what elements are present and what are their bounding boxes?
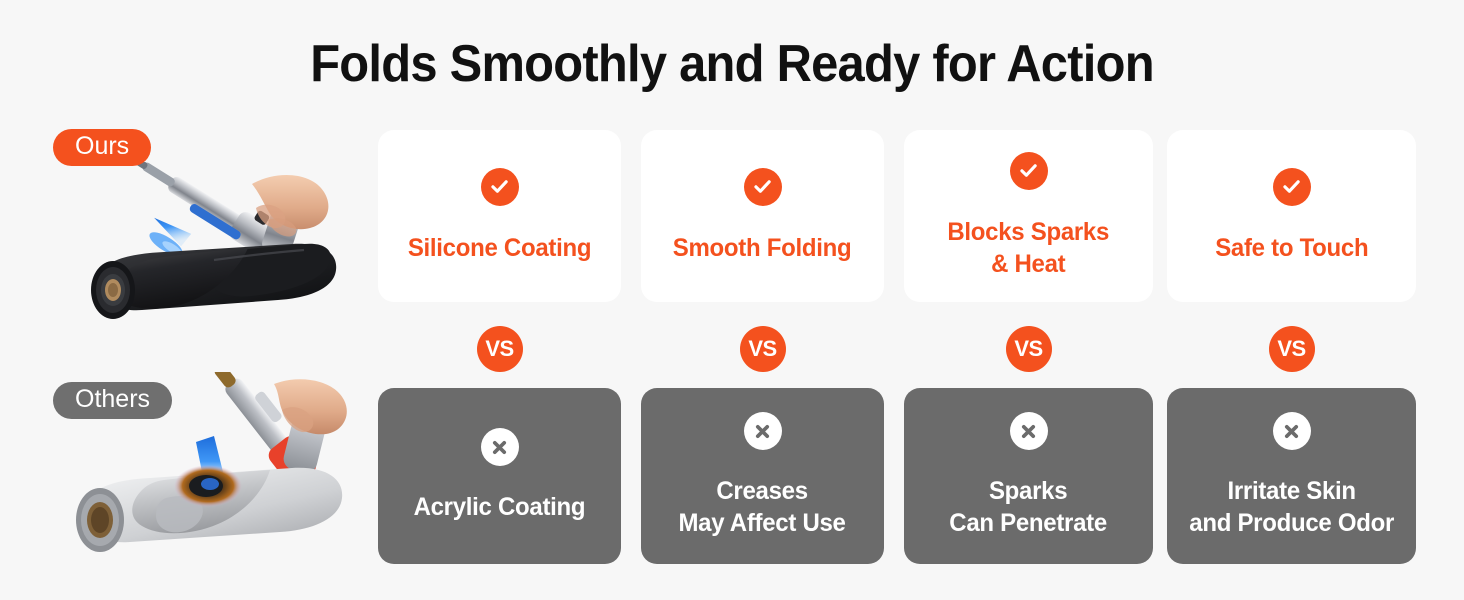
con-card-2[interactable]: Creases May Affect Use	[641, 388, 884, 564]
vs-badge-4: VS	[1269, 326, 1315, 372]
badge-others: Others	[53, 382, 172, 419]
pro-label-3: Blocks Sparks & Heat	[948, 217, 1110, 281]
check-icon	[1010, 152, 1048, 190]
pro-label-1: Silicone Coating	[408, 233, 591, 265]
comparison-infographic: Folds Smoothly and Ready for Action Ours	[0, 0, 1464, 600]
comparison-grid: Silicone Coating VS Acrylic Coating Smoo…	[378, 130, 1412, 565]
check-icon	[1273, 168, 1311, 206]
vs-badge-3: VS	[1006, 326, 1052, 372]
vs-badge-1: VS	[477, 326, 523, 372]
cross-icon	[1010, 412, 1048, 450]
pro-label-4: Safe to Touch	[1215, 233, 1368, 265]
con-card-3[interactable]: Sparks Can Penetrate	[904, 388, 1153, 564]
pro-card-1[interactable]: Silicone Coating	[378, 130, 621, 302]
comparison-column-3: Blocks Sparks & Heat VS Sparks Can Penet…	[904, 130, 1153, 565]
comparison-column-1: Silicone Coating VS Acrylic Coating	[378, 130, 621, 565]
cross-icon	[744, 412, 782, 450]
badge-ours: Ours	[53, 129, 151, 166]
pro-label-2: Smooth Folding	[673, 233, 852, 265]
pro-card-3[interactable]: Blocks Sparks & Heat	[904, 130, 1153, 302]
con-label-2: Creases May Affect Use	[679, 476, 846, 540]
con-card-1[interactable]: Acrylic Coating	[378, 388, 621, 564]
cross-icon	[1273, 412, 1311, 450]
vs-badge-2: VS	[740, 326, 786, 372]
product-image-ours	[38, 162, 358, 347]
con-label-1: Acrylic Coating	[414, 492, 586, 524]
page-title: Folds Smoothly and Ready for Action	[44, 36, 1420, 92]
pro-card-4[interactable]: Safe to Touch	[1167, 130, 1416, 302]
check-icon	[744, 168, 782, 206]
cross-icon	[481, 428, 519, 466]
check-icon	[481, 168, 519, 206]
pro-card-2[interactable]: Smooth Folding	[641, 130, 884, 302]
con-card-4[interactable]: Irritate Skin and Produce Odor	[1167, 388, 1416, 564]
con-label-4: Irritate Skin and Produce Odor	[1189, 476, 1394, 540]
comparison-column-2: Smooth Folding VS Creases May Affect Use	[641, 130, 884, 565]
comparison-column-4: Safe to Touch VS Irritate Skin and Produ…	[1167, 130, 1416, 565]
product-photo-column: Ours	[0, 110, 368, 590]
con-label-3: Sparks Can Penetrate	[950, 476, 1108, 540]
